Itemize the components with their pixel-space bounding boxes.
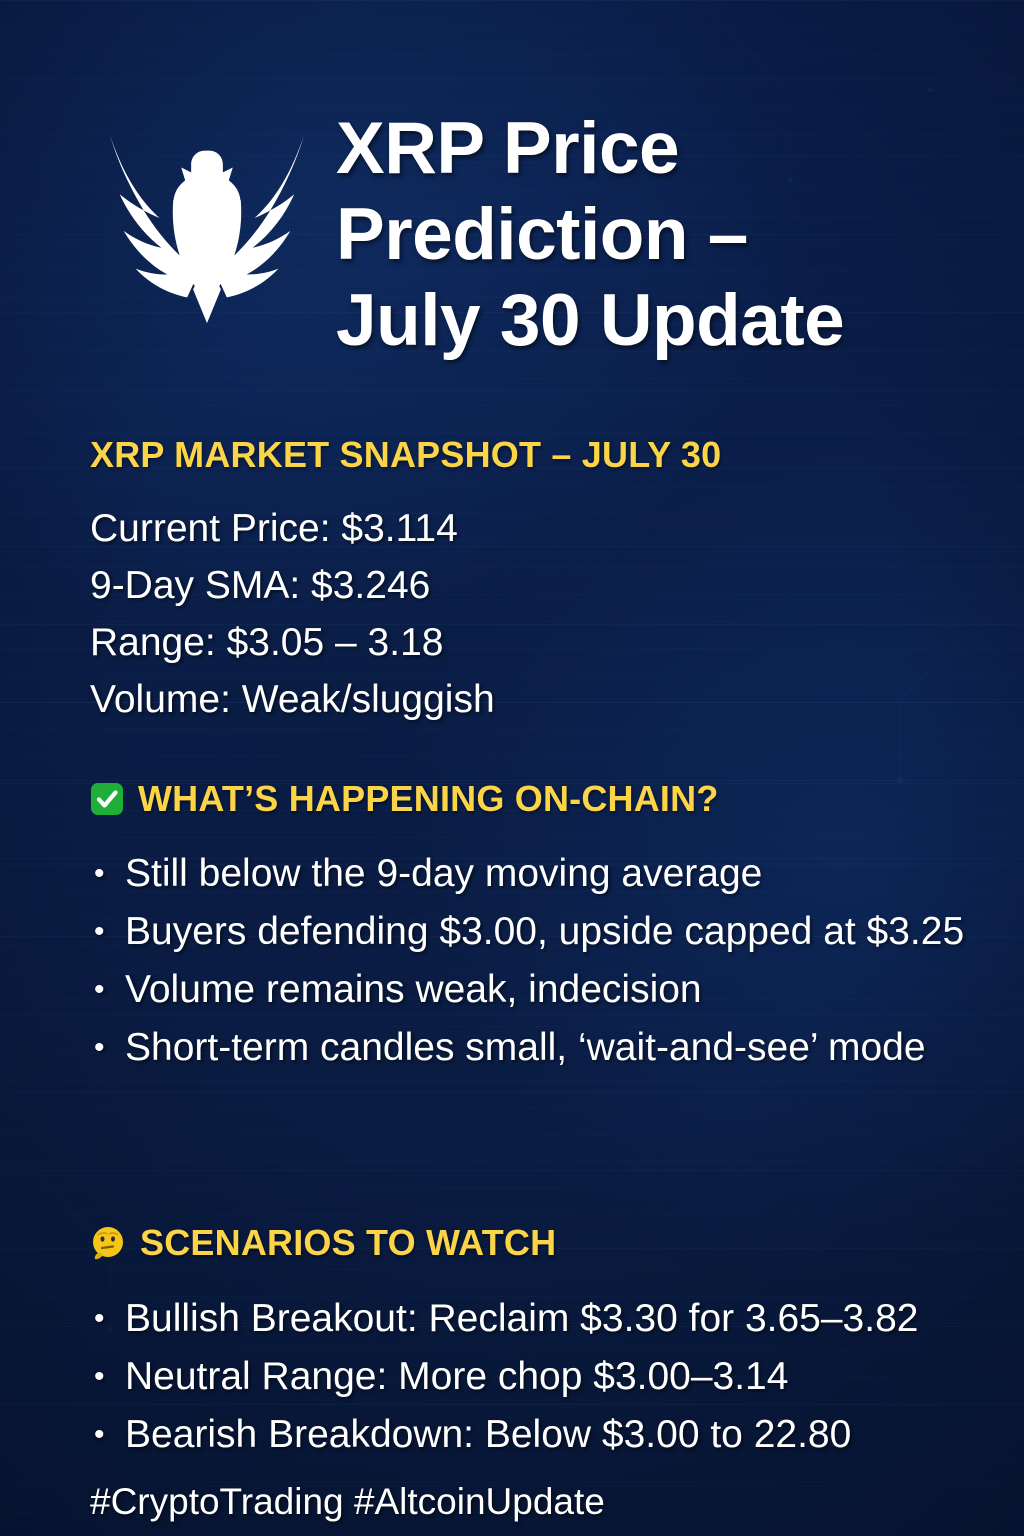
onchain-heading: WHAT’S HAPPENING ON-CHAIN? [90, 778, 719, 820]
snapshot-line: 9-Day SMA: $3.246 [90, 557, 495, 614]
list-item-text: Bullish Breakout: Reclaim $3.30 for 3.65… [125, 1290, 1010, 1348]
onchain-bullet-list: • Still below the 9-day moving average •… [90, 845, 1010, 1077]
title-line-1: XRP Price [336, 106, 844, 192]
list-item: • Bearish Breakdown: Below $3.00 to 22.8… [90, 1406, 1010, 1464]
scenarios-heading: SCENARIOS TO WATCH [90, 1222, 556, 1264]
thinking-face-icon [90, 1225, 126, 1261]
snapshot-line: Volume: Weak/sluggish [90, 671, 495, 728]
bullet-marker-icon: • [90, 1406, 125, 1464]
bullet-marker-icon: • [90, 845, 125, 903]
snapshot-line: Range: $3.05 – 3.18 [90, 614, 495, 671]
bullet-marker-icon: • [90, 903, 125, 961]
list-item: • Still below the 9-day moving average [90, 845, 1010, 903]
bullet-marker-icon: • [90, 1019, 125, 1077]
white-check-mark-icon [90, 782, 124, 816]
snapshot-lines: Current Price: $3.114 9-Day SMA: $3.246 … [90, 500, 495, 728]
page-title: XRP Price Prediction – July 30 Update [336, 106, 844, 364]
bullet-marker-icon: • [90, 1348, 125, 1406]
list-item: • Buyers defending $3.00, upside capped … [90, 903, 1010, 961]
hashtags: #CryptoTrading #AltcoinUpdate [90, 1478, 605, 1526]
scenarios-heading-label: SCENARIOS TO WATCH [140, 1222, 556, 1264]
list-item-text: Buyers defending $3.00, upside capped at… [125, 903, 1010, 961]
list-item: • Neutral Range: More chop $3.00–3.14 [90, 1348, 1010, 1406]
title-line-2: Prediction – [336, 192, 844, 278]
bullet-marker-icon: • [90, 1290, 125, 1348]
list-item: • Bullish Breakout: Reclaim $3.30 for 3.… [90, 1290, 1010, 1348]
infographic-page: XRP Price Prediction – July 30 Update XR… [0, 0, 1024, 1536]
snapshot-heading-label: XRP MARKET SNAPSHOT – JULY 30 [90, 434, 721, 476]
list-item-text: Still below the 9-day moving average [125, 845, 1010, 903]
list-item-text: Volume remains weak, indecision [125, 961, 1010, 1019]
onchain-heading-label: WHAT’S HAPPENING ON-CHAIN? [138, 778, 719, 820]
snapshot-line: Current Price: $3.114 [90, 500, 495, 557]
scenarios-bullet-list: • Bullish Breakout: Reclaim $3.30 for 3.… [90, 1290, 1010, 1464]
list-item: • Volume remains weak, indecision [90, 961, 1010, 1019]
title-line-3: July 30 Update [336, 278, 844, 364]
list-item-text: Short-term candles small, ‘wait-and-see’… [125, 1019, 1010, 1077]
list-item-text: Neutral Range: More chop $3.00–3.14 [125, 1348, 1010, 1406]
eagle-logo-icon [88, 112, 326, 327]
snapshot-heading: XRP MARKET SNAPSHOT – JULY 30 [90, 434, 721, 476]
header: XRP Price Prediction – July 30 Update [88, 104, 968, 364]
list-item: • Short-term candles small, ‘wait-and-se… [90, 1019, 1010, 1077]
bullet-marker-icon: • [90, 961, 125, 1019]
list-item-text: Bearish Breakdown: Below $3.00 to 22.80 [125, 1406, 1010, 1464]
